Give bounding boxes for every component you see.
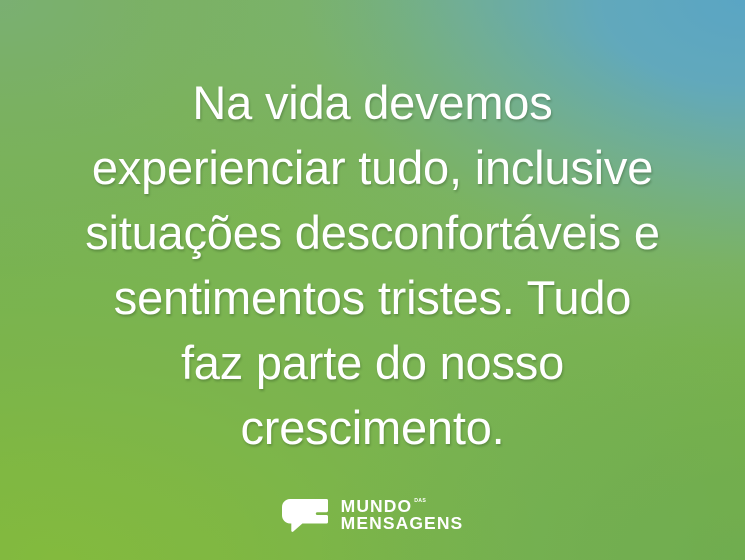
quote-line-1: Na vida devemos — [28, 70, 717, 135]
brand-logo: MUNDO DAS MENSAGENS — [0, 498, 745, 532]
quote-line-6: crescimento. — [28, 395, 717, 460]
logo-superscript-das: DAS — [414, 499, 423, 504]
quote-line-4: sentimentos tristes. Tudo — [28, 265, 717, 330]
quote-line-5: faz parte do nosso — [28, 330, 717, 395]
speech-bubble-icon — [282, 499, 328, 532]
quote-text-block: Na vida devemos experienciar tudo, inclu… — [0, 70, 745, 460]
quote-image-card: Na vida devemos experienciar tudo, inclu… — [0, 0, 745, 560]
logo-wordmark: MUNDO DAS MENSAGENS — [341, 498, 464, 532]
quote-line-2: experienciar tudo, inclusive — [28, 135, 717, 200]
logo-line-mensagens: MENSAGENS — [341, 515, 464, 532]
quote-line-3: situações desconfortáveis e — [28, 200, 717, 265]
